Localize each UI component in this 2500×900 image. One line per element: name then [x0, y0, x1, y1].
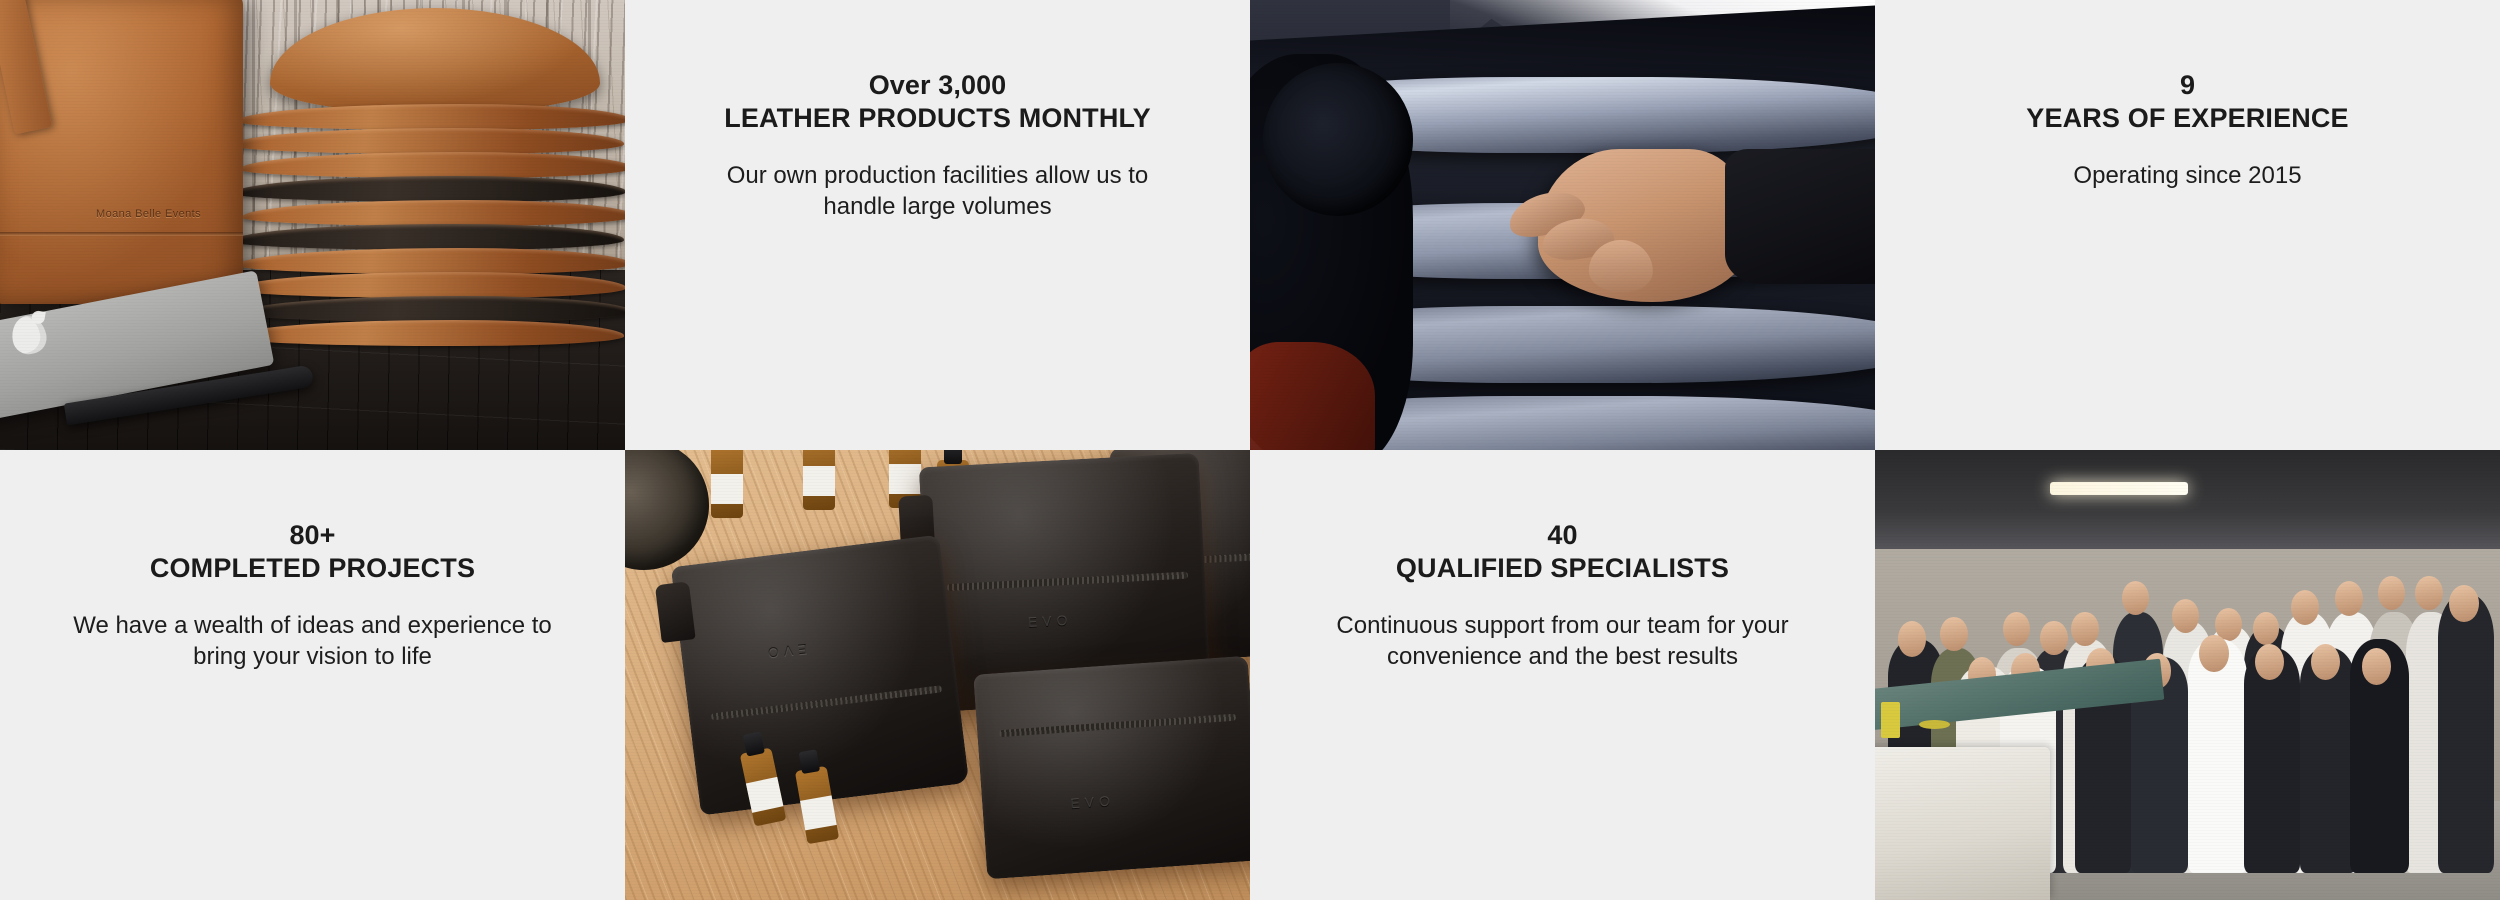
- photo-grain: [625, 450, 1250, 900]
- evo-toiletry-bags-photo-cell: EVO EVO EVO: [625, 450, 1250, 900]
- team-group-photo: [1875, 450, 2500, 900]
- stat-label: LEATHER PRODUCTS MONTHLY: [724, 105, 1151, 133]
- stat-number: 9: [2180, 72, 2195, 100]
- leather-portfolios-photo-cell: Moana Belle Events: [0, 0, 625, 450]
- photo-grain: [1875, 450, 2500, 900]
- photo-grain: [0, 0, 625, 450]
- stat-label: QUALIFIED SPECIALISTS: [1396, 555, 1729, 583]
- team-group-photo-cell: [1875, 450, 2500, 900]
- stat-description: Our own production facilities allow us t…: [688, 161, 1188, 222]
- stat-panel-qualified-specialists: 40 QUALIFIED SPECIALISTS Continuous supp…: [1250, 450, 1875, 900]
- stat-label: COMPLETED PROJECTS: [150, 555, 475, 583]
- stat-panel-years-experience: 9 YEARS OF EXPERIENCE Operating since 20…: [1875, 0, 2500, 450]
- stat-description: Operating since 2015: [2073, 161, 2301, 192]
- leather-hide-rolls-photo: [1250, 0, 1875, 450]
- evo-toiletry-bags-photo: EVO EVO EVO: [625, 450, 1250, 900]
- stats-gallery-grid: Moana Belle Events Over 3,000 LEATHER PR…: [0, 0, 2500, 900]
- stat-number: 80+: [289, 522, 335, 550]
- stat-panel-completed-projects: 80+ COMPLETED PROJECTS We have a wealth …: [0, 450, 625, 900]
- leather-hide-rolls-photo-cell: [1250, 0, 1875, 450]
- stat-description: Continuous support from our team for you…: [1313, 611, 1813, 672]
- leather-portfolios-photo: Moana Belle Events: [0, 0, 625, 450]
- stat-label: YEARS OF EXPERIENCE: [2026, 105, 2348, 133]
- stat-number: 40: [1547, 522, 1577, 550]
- stat-number: Over 3,000: [869, 72, 1007, 100]
- stat-panel-leather-products: Over 3,000 LEATHER PRODUCTS MONTHLY Our …: [625, 0, 1250, 450]
- photo-grain: [1250, 0, 1875, 450]
- stat-description: We have a wealth of ideas and experience…: [63, 611, 563, 672]
